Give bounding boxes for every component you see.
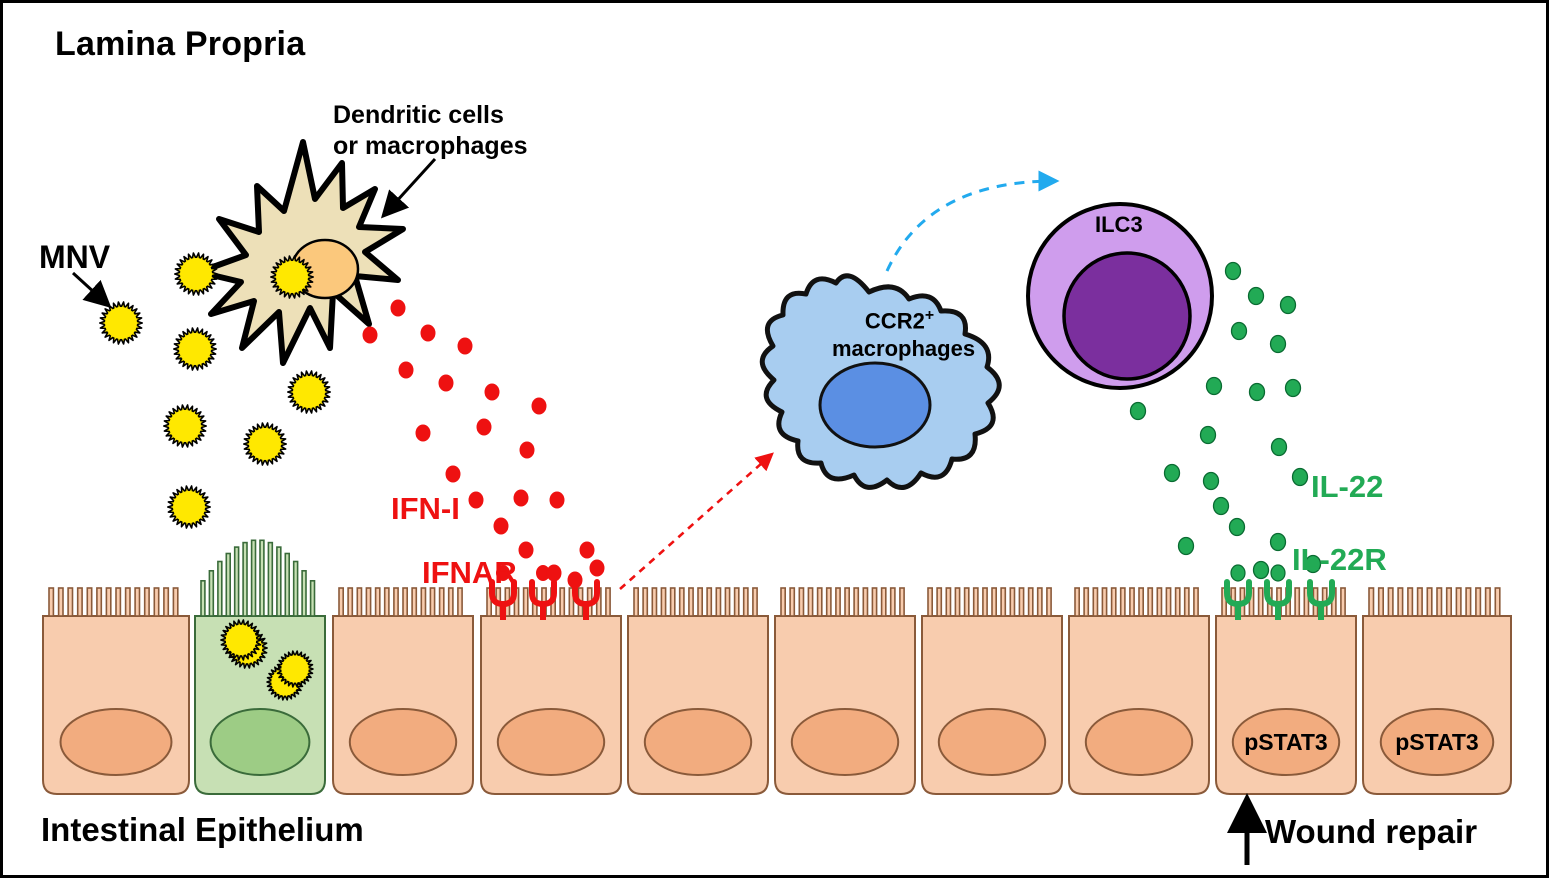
mnv-virus-particle — [244, 423, 286, 465]
mnv-pointer-arrow — [73, 273, 107, 304]
epithelial-cell-nucleus — [939, 709, 1045, 775]
microvillus — [1447, 588, 1452, 616]
microvillus — [652, 588, 656, 616]
il-22-dot — [1214, 498, 1229, 515]
il-22-dot — [1250, 384, 1265, 401]
epithelium-row — [43, 540, 1511, 794]
il-22-dot — [1226, 263, 1241, 280]
ifn-i-dot — [532, 398, 547, 415]
microvillus — [1476, 588, 1481, 616]
ifn-i-dot — [485, 384, 500, 401]
il-22-dot — [1201, 427, 1216, 444]
mnv-virus-particle — [100, 302, 142, 344]
ifn-i-dot — [477, 419, 492, 436]
microvillus — [725, 588, 729, 616]
microvillus — [1437, 588, 1442, 616]
mnv-virus-particle — [164, 405, 206, 447]
il-22-dot — [1204, 473, 1219, 490]
ilc3-nucleus — [1064, 253, 1190, 379]
microvillus — [781, 588, 785, 616]
ifnar-label: IFNAR — [422, 555, 517, 591]
microvillus — [818, 588, 822, 616]
diagram-svg: pSTAT3pSTAT3 — [3, 3, 1549, 878]
microvillus — [302, 571, 306, 616]
ifn-i-dot — [363, 327, 378, 344]
microvillus — [790, 588, 794, 616]
il-22-dot — [1293, 469, 1308, 486]
microvillus — [560, 588, 564, 616]
microvillus — [1388, 588, 1393, 616]
epithelial-cell[interactable] — [333, 588, 473, 794]
microvillus — [716, 588, 720, 616]
ifn-i-dot — [458, 338, 473, 355]
il-22-dot — [1272, 439, 1287, 456]
il-22-dot — [1254, 562, 1269, 579]
microvillus — [252, 540, 256, 616]
microvillus — [68, 588, 72, 616]
macrophage-nucleus — [820, 363, 930, 447]
microvillus — [1495, 588, 1500, 616]
microvillus — [1102, 588, 1106, 616]
microvillus — [78, 588, 82, 616]
epithelial-cell-nucleus — [792, 709, 898, 775]
microvillus — [294, 562, 298, 617]
microvillus — [1427, 588, 1432, 616]
epithelial-cell-nucleus — [61, 709, 172, 775]
ccr2-label-line2: macrophages — [832, 335, 967, 363]
microvillus — [707, 588, 711, 616]
mnv-virus-particle — [174, 328, 216, 370]
microvillus — [928, 588, 932, 616]
microvillus — [872, 588, 876, 616]
microvillus — [863, 588, 867, 616]
il-22-dot — [1165, 465, 1180, 482]
microvillus — [634, 588, 638, 616]
epithelial-cell-nucleus — [211, 709, 310, 775]
microvillus — [403, 588, 407, 616]
ifn-i-dot — [520, 442, 535, 459]
microvillus — [421, 588, 425, 616]
microvillus — [201, 581, 205, 616]
il-22-label: IL-22 — [1311, 469, 1383, 505]
epithelial-cell[interactable] — [1363, 588, 1511, 794]
microvillus — [1418, 588, 1423, 616]
microvillus — [376, 588, 380, 616]
il-22-dot — [1207, 378, 1222, 395]
microvillus — [235, 547, 239, 616]
epithelial-cell[interactable] — [922, 588, 1062, 794]
mnv-virus-particle — [288, 371, 330, 413]
epithelial-cell-nucleus — [1086, 709, 1192, 775]
wound-repair-label: Wound repair — [1265, 813, 1477, 851]
microvillus — [218, 562, 222, 617]
microvillus — [1075, 588, 1079, 616]
microvillus — [1166, 588, 1170, 616]
microvillus — [1408, 588, 1413, 616]
mnv-virus-particle — [168, 486, 210, 528]
il-22-dot — [1281, 297, 1296, 314]
microvillus — [430, 588, 434, 616]
microvillus — [946, 588, 950, 616]
epithelial-cell[interactable] — [1069, 588, 1209, 794]
ccr2-macrophages-label: CCR2+ macrophages — [832, 306, 967, 362]
microvillus — [1038, 588, 1042, 616]
epithelial-cell[interactable] — [481, 565, 621, 794]
microvillus — [671, 588, 675, 616]
microvillus — [1456, 588, 1461, 616]
microvillus — [808, 588, 812, 616]
microvillus — [1047, 588, 1051, 616]
lamina-propria-label: Lamina Propria — [55, 25, 305, 64]
microvillus — [106, 588, 110, 616]
pstat3-text: pSTAT3 — [1244, 729, 1327, 755]
ifn-i-dot — [416, 425, 431, 442]
microvillus — [753, 588, 757, 616]
ifn-to-macrophage-arrow — [620, 455, 771, 589]
ifn-i-dot — [519, 542, 534, 559]
microvillus — [1148, 588, 1152, 616]
microvillus — [49, 588, 53, 616]
microvillus — [1001, 588, 1005, 616]
epithelial-cell[interactable] — [1216, 565, 1356, 794]
macrophage-to-ilc3-arrow — [887, 181, 1055, 271]
microvillus — [116, 588, 120, 616]
microvillus — [1176, 588, 1180, 616]
microvillus — [1157, 588, 1161, 616]
microvillus — [1379, 588, 1384, 616]
ifn-i-dot — [494, 518, 509, 535]
mnv-label: MNV — [39, 239, 110, 276]
il-22r-label: IL-22R — [1292, 542, 1387, 578]
microvillus — [689, 588, 693, 616]
microvillus — [385, 588, 389, 616]
microvillus — [965, 588, 969, 616]
dendritic-label-line2: or macrophages — [333, 131, 528, 162]
il-22-dot — [1232, 323, 1247, 340]
microvillus — [173, 588, 177, 616]
microvillus — [1121, 588, 1125, 616]
microvillus — [277, 547, 281, 616]
microvillus — [937, 588, 941, 616]
microvillus — [154, 588, 158, 616]
microvillus — [1369, 588, 1374, 616]
microvillus — [1112, 588, 1116, 616]
microvillus — [145, 588, 149, 616]
microvillus — [285, 554, 289, 617]
microvillus — [643, 588, 647, 616]
ifn-i-label: IFN-I — [391, 491, 460, 527]
microvillus — [97, 588, 101, 616]
microvillus — [992, 588, 996, 616]
microvillus — [1185, 588, 1189, 616]
epithelial-cell-nucleus — [498, 709, 604, 775]
ifn-i-dot — [580, 542, 595, 559]
microvillus — [955, 588, 959, 616]
ifn-i-dot — [469, 492, 484, 509]
microvillus — [260, 540, 264, 616]
microvillus — [59, 588, 63, 616]
microvillus — [974, 588, 978, 616]
ccr2-plus-sign: + — [925, 307, 934, 324]
dendritic-label-line1: Dendritic cells — [333, 100, 528, 131]
il-22-dot — [1286, 380, 1301, 397]
epithelial-cell-nucleus — [350, 709, 456, 775]
microvillus — [1029, 588, 1033, 616]
microvillus — [854, 588, 858, 616]
microvillus — [440, 588, 444, 616]
ifn-i-dot — [439, 375, 454, 392]
microvillus — [311, 581, 315, 616]
ifn-i-dot — [550, 492, 565, 509]
figure-canvas: pSTAT3pSTAT3 Lamina Propria Intestinal E… — [0, 0, 1549, 878]
ifn-i-dot — [446, 466, 461, 483]
ifn-i-dot — [399, 362, 414, 379]
microvillus — [1019, 588, 1023, 616]
microvillus — [1466, 588, 1471, 616]
microvillus — [1341, 588, 1345, 616]
ilc3-label: ILC3 — [1095, 212, 1143, 238]
microvillus — [1295, 588, 1299, 616]
microvillus — [680, 588, 684, 616]
il-22-dot — [1179, 538, 1194, 555]
microvillus — [87, 588, 91, 616]
ifn-i-dot — [547, 565, 562, 582]
ifn-i-dot — [421, 325, 436, 342]
microvillus — [1139, 588, 1143, 616]
microvillus — [827, 588, 831, 616]
microvillus — [1093, 588, 1097, 616]
il-22-dot — [1271, 534, 1286, 551]
il-22-dot — [1249, 288, 1264, 305]
microvillus — [268, 543, 272, 616]
microvillus — [209, 571, 213, 616]
ifn-i-dot — [568, 572, 583, 589]
microvillus — [348, 588, 352, 616]
microvillus — [1398, 588, 1403, 616]
ifn-i-dot — [514, 490, 529, 507]
microvillus — [891, 588, 895, 616]
microvillus — [126, 588, 130, 616]
microvillus — [606, 588, 610, 616]
epithelial-cell[interactable] — [628, 588, 768, 794]
microvillus — [661, 588, 665, 616]
dendritic-cells-label: Dendritic cells or macrophages — [333, 100, 528, 161]
microvillus — [845, 588, 849, 616]
microvillus — [882, 588, 886, 616]
microvillus — [1130, 588, 1134, 616]
microvillus — [1486, 588, 1491, 616]
il-22-dot — [1271, 336, 1286, 353]
dendritic-pointer-arrow — [385, 159, 435, 214]
microvillus — [983, 588, 987, 616]
microvillus — [357, 588, 361, 616]
intestinal-epithelium-label: Intestinal Epithelium — [41, 811, 364, 849]
microvillus — [836, 588, 840, 616]
ifn-i-dot — [391, 300, 406, 317]
epithelial-cell[interactable] — [43, 588, 189, 794]
mnv-virus-particle — [175, 253, 217, 295]
microvillus — [1010, 588, 1014, 616]
pstat3-labels: pSTAT3pSTAT3 — [1244, 729, 1478, 755]
microvillus — [524, 588, 528, 616]
microvillus — [366, 588, 370, 616]
microvillus — [243, 543, 247, 616]
microvillus — [735, 588, 739, 616]
microvillus — [412, 588, 416, 616]
microvillus — [698, 588, 702, 616]
bound-ligand — [1231, 565, 1245, 581]
microvillus — [164, 588, 168, 616]
microvillus — [799, 588, 803, 616]
bound-ligand — [1271, 565, 1285, 581]
microvillus — [1259, 588, 1263, 616]
microvillus — [458, 588, 462, 616]
ccr2-label-line1: CCR2+ — [832, 306, 967, 335]
microvillus — [744, 588, 748, 616]
epithelial-cell-nucleus — [645, 709, 751, 775]
microvillus — [339, 588, 343, 616]
ifn-i-particles — [363, 300, 605, 589]
microvillus — [900, 588, 904, 616]
microvillus — [1194, 588, 1198, 616]
epithelial-cell[interactable] — [775, 588, 915, 794]
il-22-dot — [1230, 519, 1245, 536]
microvillus — [135, 588, 139, 616]
microvillus — [394, 588, 398, 616]
ifn-i-dot — [590, 560, 605, 577]
microvillus — [1084, 588, 1088, 616]
pstat3-text: pSTAT3 — [1395, 729, 1478, 755]
microvillus — [226, 554, 230, 617]
microvillus — [449, 588, 453, 616]
il-22-dot — [1131, 403, 1146, 420]
